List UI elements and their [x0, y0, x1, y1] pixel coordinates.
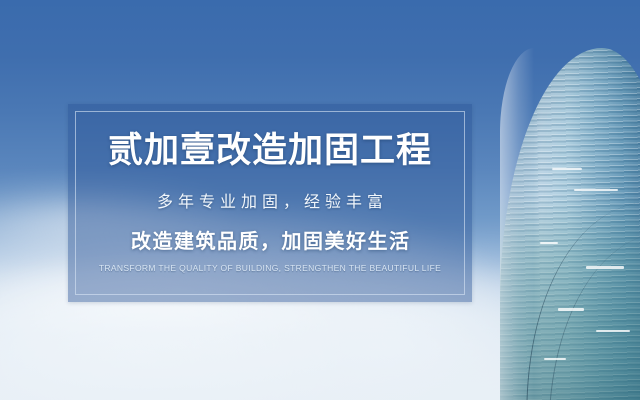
- banner-tagline: 改造建筑品质，加固美好生活: [130, 225, 411, 254]
- tower-window-streak: [586, 266, 624, 269]
- tower-window-streak: [552, 168, 582, 171]
- banner-tagline-english: TRANSFORM THE QUALITY OF BUILDING, STREN…: [99, 263, 441, 273]
- banner-subline: 多年专业加固，经验丰富: [152, 188, 388, 212]
- skyscraper-image: [492, 48, 640, 400]
- banner-headline: 贰加壹改造加固工程: [108, 132, 432, 170]
- tower-edge-highlight: [500, 48, 534, 400]
- tower-body: [500, 48, 640, 400]
- tower-window-streak: [558, 308, 584, 311]
- tower-window-streak: [596, 330, 630, 333]
- text-overlay-panel: 贰加壹改造加固工程 多年专业加固，经验丰富 改造建筑品质，加固美好生活 TRAN…: [68, 104, 472, 302]
- hero-banner: 贰加壹改造加固工程 多年专业加固，经验丰富 改造建筑品质，加固美好生活 TRAN…: [0, 0, 640, 400]
- panel-content: 贰加壹改造加固工程 多年专业加固，经验丰富 改造建筑品质，加固美好生活 TRAN…: [68, 104, 472, 302]
- tower-window-streak: [544, 358, 566, 361]
- tower-window-streak: [540, 242, 558, 245]
- tower-window-streak: [574, 189, 618, 192]
